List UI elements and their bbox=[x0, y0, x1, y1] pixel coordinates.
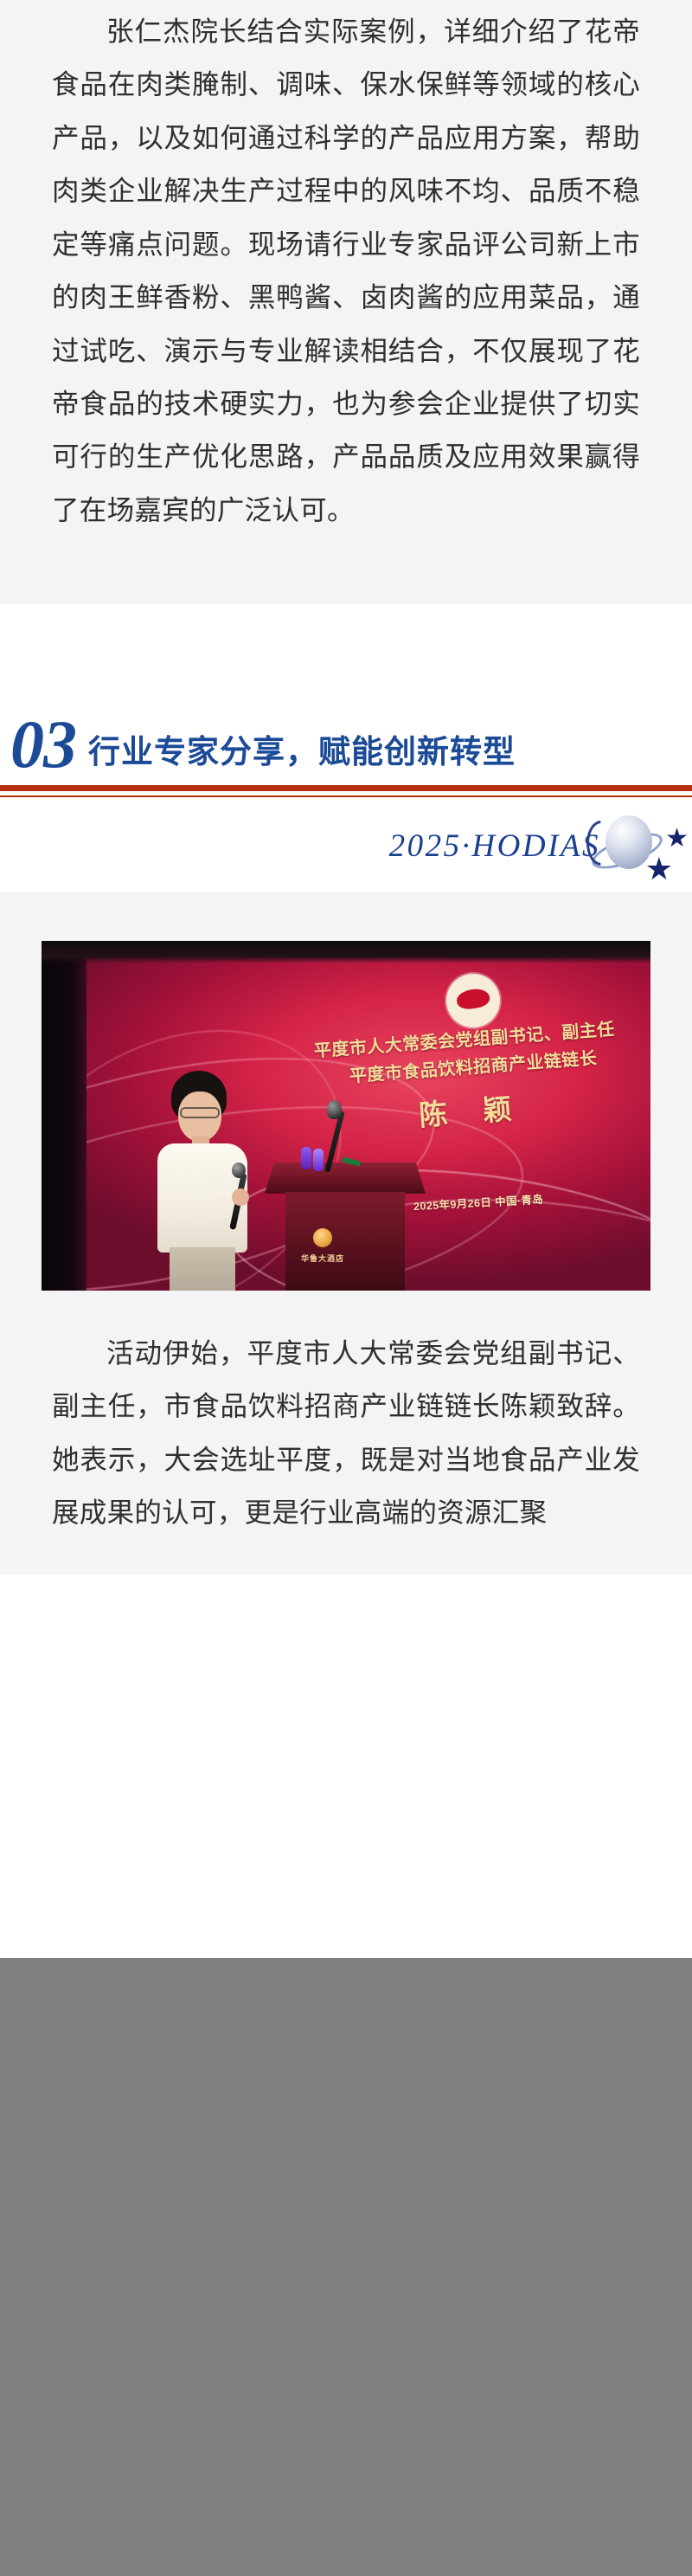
star-icon-large: ★ bbox=[645, 853, 673, 885]
speaker-skirt bbox=[170, 1247, 235, 1291]
article-page: 张仁杰院长结合实际案例，详细介绍了花帝食品在肉类腌制、调味、保水保鲜等领域的核心… bbox=[0, 0, 692, 2576]
star-icon-small: ★ bbox=[665, 826, 689, 852]
podium-decor-right bbox=[313, 1149, 324, 1171]
podium-decor-left bbox=[301, 1147, 311, 1169]
article-text-card-bottom: 活动伊始，平度市人大常委会党组副书记、副主任，市食品饮料招商产业链链长陈颖致辞。… bbox=[0, 1291, 692, 1575]
stage-left-shadow bbox=[42, 941, 86, 1291]
podium-body bbox=[285, 1192, 405, 1291]
gray-overlay-mask bbox=[0, 1958, 692, 2576]
speaker-hand bbox=[232, 1188, 249, 1206]
podium-logo-icon bbox=[313, 1228, 332, 1247]
organization-emblem-icon bbox=[446, 974, 500, 1027]
divider-thick-line bbox=[0, 785, 692, 791]
hodias-planet-icon: ★ ★ bbox=[585, 803, 687, 886]
podium-microphone-head-icon bbox=[327, 1100, 342, 1119]
section-number: 03 bbox=[10, 715, 76, 775]
glasses-icon bbox=[180, 1107, 220, 1118]
section-title: 行业专家分享，赋能创新转型 bbox=[88, 736, 516, 775]
podium: 华鲁大酒店 bbox=[265, 1162, 426, 1291]
paragraph-speaker-summary: 张仁杰院长结合实际案例，详细介绍了花帝食品在肉类腌制、调味、保水保鲜等领域的核心… bbox=[52, 5, 640, 537]
article-text-card-top: 张仁杰院长结合实际案例，详细介绍了花帝食品在肉类腌制、调味、保水保鲜等领域的核心… bbox=[0, 0, 692, 604]
photo-card: 平度市人大常委会党组副书记、副主任 平度市食品饮料招商产业链链长 陈 颖 202… bbox=[0, 892, 692, 1291]
speaker-figure bbox=[152, 1071, 265, 1291]
handheld-microphone-head-icon bbox=[232, 1162, 246, 1178]
brand-wordmark: 2025·HODIAS bbox=[389, 828, 600, 865]
stage-top-shadow bbox=[42, 941, 650, 963]
brand-logo-row: 2025·HODIAS ★ ★ bbox=[0, 797, 692, 892]
podium-top bbox=[265, 1162, 426, 1194]
section-gap bbox=[0, 604, 692, 708]
event-photo: 平度市人大常委会党组副书记、副主任 平度市食品饮料招商产业链链长 陈 颖 202… bbox=[42, 941, 650, 1291]
section-divider bbox=[0, 785, 692, 797]
section-header-row: 03 行业专家分享，赋能创新转型 bbox=[0, 715, 692, 775]
podium-label: 华鲁大酒店 bbox=[296, 1253, 349, 1264]
paragraph-opening-remarks: 活动伊始，平度市人大常委会党组副书记、副主任，市食品饮料招商产业链链长陈颖致辞。… bbox=[52, 1327, 640, 1540]
section-header-03: 03 行业专家分享，赋能创新转型 bbox=[0, 708, 692, 797]
